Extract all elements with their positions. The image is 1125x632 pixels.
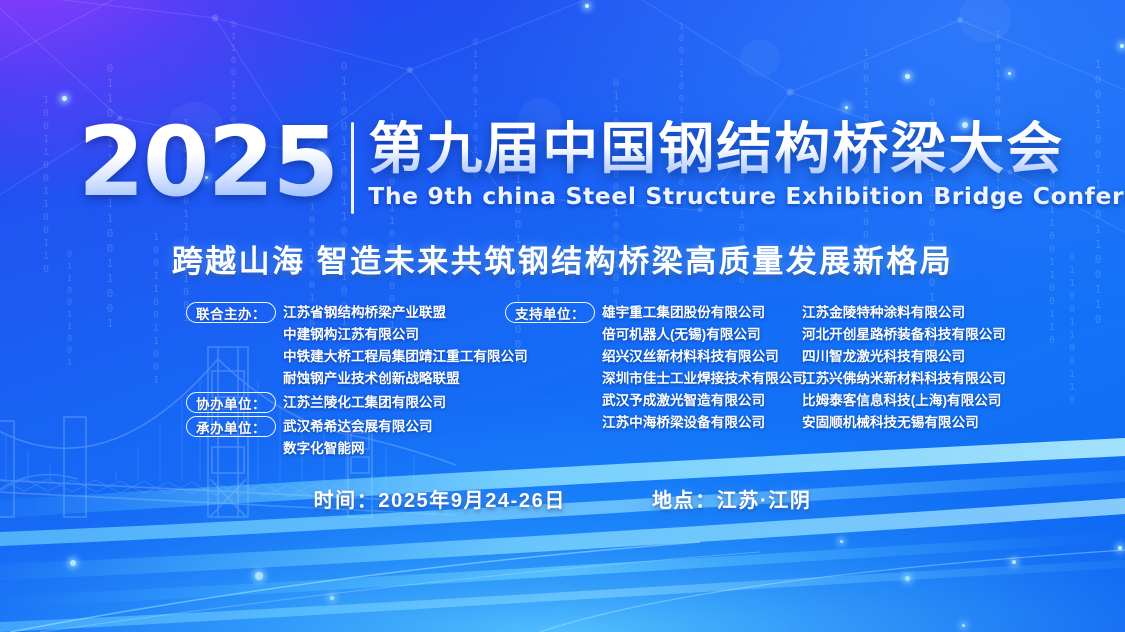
conference-title-en: The 9th china Steel Structure Exhibition… xyxy=(368,182,1125,210)
sponsor-name: 比姆泰客信息科技(上海)有限公司 xyxy=(802,390,1052,412)
organizer-name-list: 武汉希希达会展有限公司数字化智能网 xyxy=(283,416,433,460)
organizer-role-label: 支持单位： xyxy=(505,302,595,323)
poster-content: 2025 第九届中国钢结构桥梁大会 The 9th china Steel St… xyxy=(0,0,1125,632)
organizer-name: 倍可机器人(无锡)有限公司 xyxy=(602,324,806,346)
organizer-name: 雄宇重工集团股份有限公司 xyxy=(602,302,806,324)
organizer-group: 承办单位：武汉希希达会展有限公司数字化智能网 xyxy=(186,416,496,460)
footer-info: 时间：2025年9月24-26日 地点：江苏·江阴 xyxy=(0,484,1125,513)
sponsor-name: 河北开创星路桥装备科技有限公司 xyxy=(802,324,1052,346)
organizer-name: 江苏省钢结构桥梁产业联盟 xyxy=(283,302,528,324)
conference-slogan: 跨越山海 智造未来共筑钢结构桥梁高质量发展新格局 xyxy=(0,236,1125,281)
sponsor-name: 江苏兴佛纳米新材料科技有限公司 xyxy=(802,368,1052,390)
organizer-name: 深圳市佳士工业焊接技术有限公司 xyxy=(602,368,806,390)
organizer-column-right: 江苏金陵特种涂料有限公司河北开创星路桥装备科技有限公司四川智龙激光科技有限公司江… xyxy=(802,302,1052,434)
organizer-name: 中建钢构江苏有限公司 xyxy=(283,324,528,346)
year-2025: 2025 xyxy=(78,118,337,206)
organizer-column-left: 联合主办：江苏省钢结构桥梁产业联盟中建钢构江苏有限公司中铁建大桥工程局集团靖江重… xyxy=(186,302,496,462)
sponsor-name: 江苏金陵特种涂料有限公司 xyxy=(802,302,1052,324)
organizer-role-label: 联合主办： xyxy=(186,302,276,323)
organizer-name: 江苏中海桥梁设备有限公司 xyxy=(602,412,806,434)
organizer-name: 武汉希希达会展有限公司 xyxy=(283,416,433,438)
organizer-name-list: 江苏省钢结构桥梁产业联盟中建钢构江苏有限公司中铁建大桥工程局集团靖江重工有限公司… xyxy=(283,302,528,390)
conference-poster: 1001100110011001100110011001100110011001… xyxy=(0,0,1125,632)
sponsor-name: 安固顺机械科技无锡有限公司 xyxy=(802,412,1052,434)
organizer-name: 武汉予成激光智造有限公司 xyxy=(602,390,806,412)
sponsor-name: 四川智龙激光科技有限公司 xyxy=(802,346,1052,368)
organizer-column-middle: 支持单位：雄宇重工集团股份有限公司倍可机器人(无锡)有限公司绍兴汉丝新材料科技有… xyxy=(505,302,805,436)
organizer-group: 支持单位：雄宇重工集团股份有限公司倍可机器人(无锡)有限公司绍兴汉丝新材料科技有… xyxy=(505,302,805,434)
organizer-role-label: 承办单位： xyxy=(186,416,276,437)
organizer-group: 联合主办：江苏省钢结构桥梁产业联盟中建钢构江苏有限公司中铁建大桥工程局集团靖江重… xyxy=(186,302,496,390)
organizer-name-list: 江苏兰陵化工集团有限公司 xyxy=(283,392,446,414)
organizer-name: 中铁建大桥工程局集团靖江重工有限公司 xyxy=(283,346,528,368)
organizer-name: 耐蚀钢产业技术创新战略联盟 xyxy=(283,368,528,390)
title-row: 2025 第九届中国钢结构桥梁大会 The 9th china Steel St… xyxy=(78,118,1125,214)
conference-title-cn: 第九届中国钢结构桥梁大会 xyxy=(368,120,1125,177)
title-text-wrap: 第九届中国钢结构桥梁大会 The 9th china Steel Structu… xyxy=(368,118,1125,210)
organizer-role-label: 协办单位： xyxy=(186,392,276,413)
title-divider xyxy=(351,122,354,214)
organizer-name: 绍兴汉丝新材料科技有限公司 xyxy=(602,346,806,368)
organizer-name-list: 雄宇重工集团股份有限公司倍可机器人(无锡)有限公司绍兴汉丝新材料科技有限公司深圳… xyxy=(602,302,806,434)
event-date: 时间：2025年9月24-26日 xyxy=(314,484,566,513)
organizer-group: 协办单位：江苏兰陵化工集团有限公司 xyxy=(186,392,496,414)
event-location: 地点：江苏·江阴 xyxy=(652,484,811,513)
organizer-name: 江苏兰陵化工集团有限公司 xyxy=(283,392,446,414)
organizer-name: 数字化智能网 xyxy=(283,438,433,460)
